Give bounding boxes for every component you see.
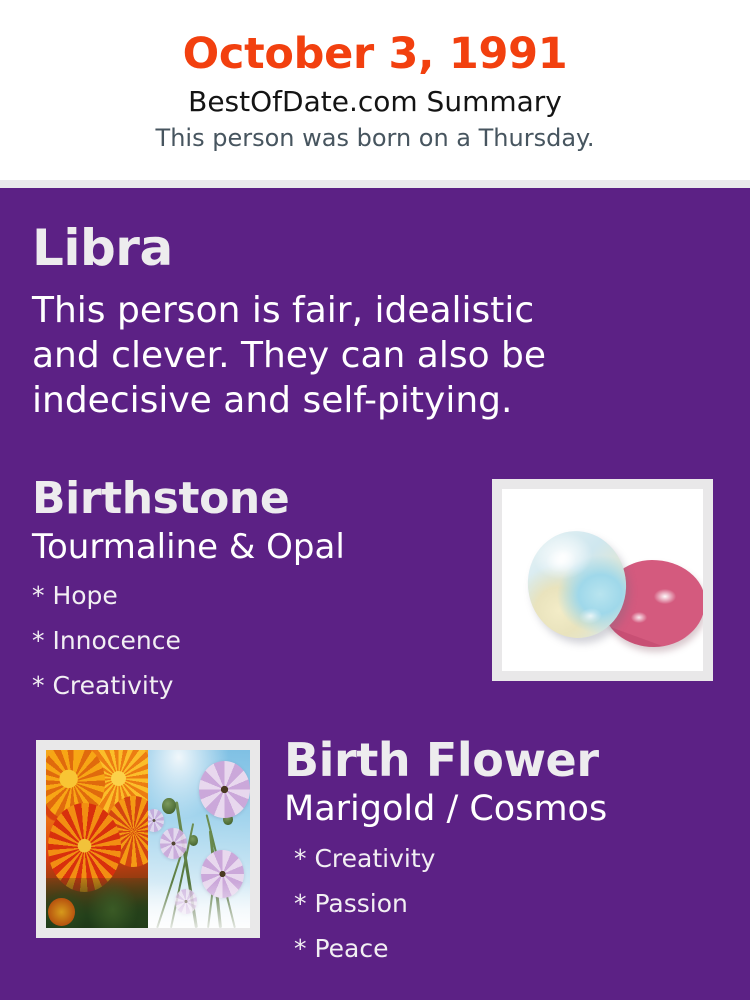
cosmos-flower-icon <box>148 809 164 832</box>
list-item: * Creativity <box>32 663 472 708</box>
marigold-flower-icon <box>48 898 75 926</box>
flower-illustration <box>46 750 250 928</box>
page-title-date: October 3, 1991 <box>0 0 750 80</box>
birth-flower-block: Birth Flower Marigold / Cosmos * Creativ… <box>284 733 734 971</box>
cosmos-sky-haze <box>148 882 250 928</box>
birth-flower-image-frame <box>36 740 260 938</box>
born-day-note: This person was born on a Thursday. <box>0 120 750 154</box>
zodiac-sign-title: Libra <box>32 220 173 276</box>
birthstone-image <box>502 489 703 671</box>
gem-sparkle-icon <box>631 612 646 622</box>
cosmos-bud-icon <box>162 798 175 814</box>
list-item: * Peace <box>294 926 734 971</box>
cosmos-flower-icon <box>199 761 250 818</box>
gemstone-illustration <box>502 489 703 671</box>
birth-flower-title: Birth Flower <box>284 733 734 787</box>
birthstone-trait-list: * Hope * Innocence * Creativity <box>32 573 472 708</box>
birthstone-names: Tourmaline & Opal <box>32 525 472 569</box>
page-header: October 3, 1991 BestOfDate.com Summary T… <box>0 0 750 180</box>
opal-highlight <box>545 548 577 573</box>
list-item: * Creativity <box>294 836 734 881</box>
marigold-photo-half <box>46 750 148 928</box>
birth-flower-names: Marigold / Cosmos <box>284 787 734 832</box>
birth-flower-image <box>46 750 250 928</box>
list-item: * Passion <box>294 881 734 926</box>
birthstone-block: Birthstone Tourmaline & Opal * Hope * In… <box>32 473 472 708</box>
gem-sparkle-icon <box>654 589 677 604</box>
cosmos-flower-icon <box>160 828 187 858</box>
birthstone-title: Birthstone <box>32 473 472 525</box>
header-divider <box>0 180 750 188</box>
list-item: * Innocence <box>32 618 472 663</box>
birthstone-image-frame <box>492 479 713 681</box>
zodiac-description: This person is fair, idealistic and clev… <box>32 288 612 423</box>
birth-flower-trait-list: * Creativity * Passion * Peace <box>284 836 734 971</box>
cosmos-photo-half <box>148 750 250 928</box>
summary-body-panel: Libra This person is fair, idealistic an… <box>0 188 750 1000</box>
site-summary-label: BestOfDate.com Summary <box>0 80 750 120</box>
cosmos-bud-icon <box>189 835 198 846</box>
list-item: * Hope <box>32 573 472 618</box>
opal-highlight <box>579 607 603 625</box>
summary-page: October 3, 1991 BestOfDate.com Summary T… <box>0 0 750 1000</box>
